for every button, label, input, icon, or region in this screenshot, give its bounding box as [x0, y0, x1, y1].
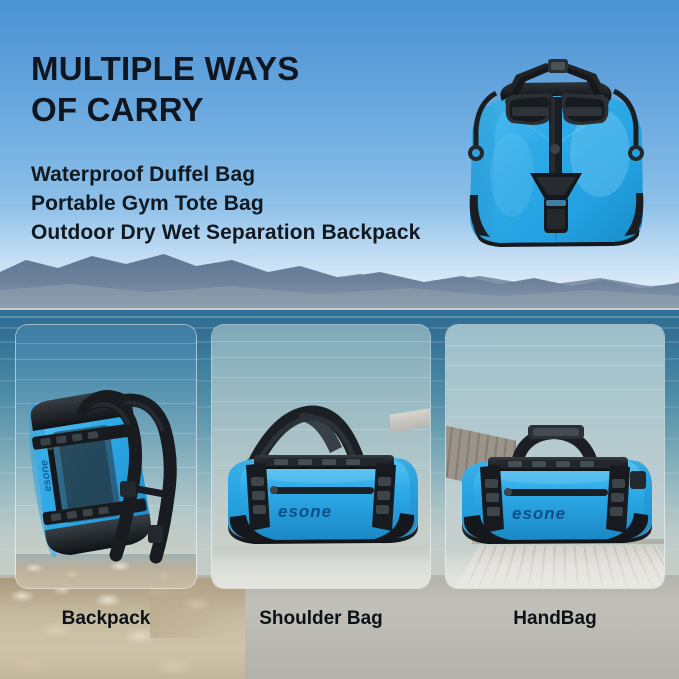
panel-backpack[interactable]: esone: [16, 325, 196, 588]
headline-line-1: MULTIPLE WAYS: [31, 48, 461, 89]
caption-backpack: Backpack: [16, 608, 196, 630]
duffel-bag-shoulder-mode: esone: [218, 407, 426, 547]
page-title: MULTIPLE WAYS OF CARRY: [31, 48, 461, 130]
panel-2-foam: [212, 548, 430, 588]
panel-shoulder-bag[interactable]: esone: [212, 325, 430, 588]
subtitle-line-1: Waterproof Duffel Bag: [31, 160, 501, 189]
brand-logo-panel-2: esone: [278, 502, 332, 521]
panel-3-foam: [446, 548, 664, 588]
caption-shoulder-bag: Shoulder Bag: [212, 608, 430, 630]
panel-handbag[interactable]: esone: [446, 325, 664, 588]
subtitle-line-3: Outdoor Dry Wet Separation Backpack: [31, 218, 501, 247]
caption-handbag: HandBag: [446, 608, 664, 630]
duffel-bag-backpack-mode: esone: [24, 377, 192, 567]
product-marketing-image: MULTIPLE WAYS OF CARRY Waterproof Duffel…: [0, 0, 679, 679]
duffel-bag-handbag-mode: esone: [454, 413, 658, 543]
hero-duffel-bag-end-view: [450, 45, 665, 265]
subtitle-line-2: Portable Gym Tote Bag: [31, 189, 501, 218]
brand-logo-panel-3: esone: [512, 504, 566, 523]
subtitle-block: Waterproof Duffel Bag Portable Gym Tote …: [31, 160, 501, 247]
headline-line-2: OF CARRY: [31, 89, 461, 130]
